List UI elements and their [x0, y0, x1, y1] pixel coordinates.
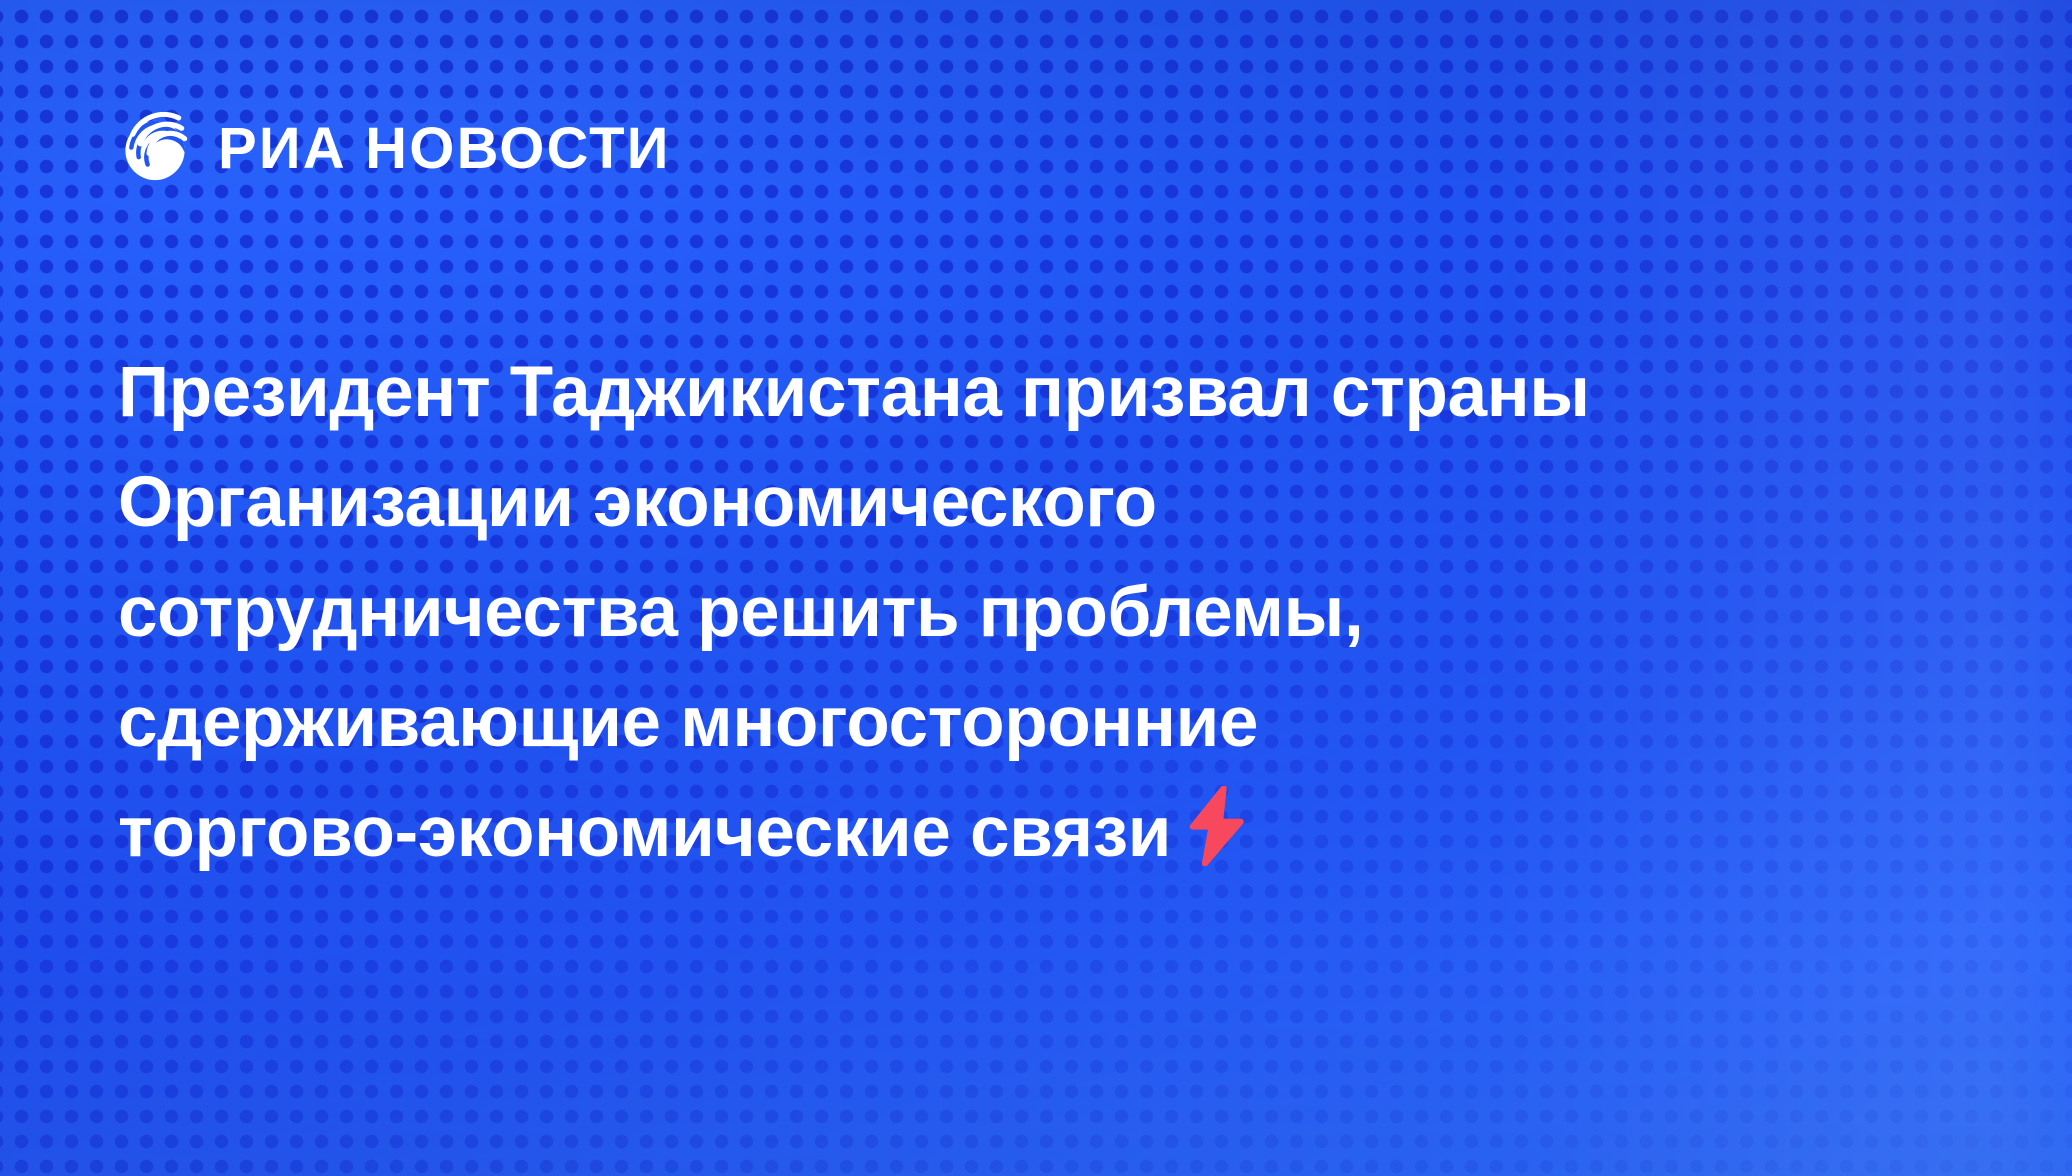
headline-line-3: сотрудничества решить проблемы,: [118, 558, 1918, 668]
headline-line-5-text: торгово-экономические связи: [118, 793, 1171, 872]
logo-wordmark: РИА НОВОСТИ: [218, 120, 671, 178]
headline-line-2: Организации экономического: [118, 448, 1918, 558]
ria-novosti-logo[interactable]: РИА НОВОСТИ: [118, 112, 671, 186]
headline-line-5: торгово-экономические связи: [118, 778, 1918, 888]
card-content: РИА НОВОСТИ Президент Таджикистана призв…: [0, 0, 2072, 1176]
headline: Президент Таджикистана призвал страны Ор…: [118, 338, 1918, 888]
headline-line-1: Президент Таджикистана призвал страны: [118, 338, 1918, 448]
high-voltage-icon: [1185, 786, 1249, 866]
news-card: РИА НОВОСТИ Президент Таджикистана призв…: [0, 0, 2072, 1176]
headline-line-4: сдерживающие многосторонние: [118, 668, 1918, 778]
ria-globe-icon: [118, 112, 192, 186]
